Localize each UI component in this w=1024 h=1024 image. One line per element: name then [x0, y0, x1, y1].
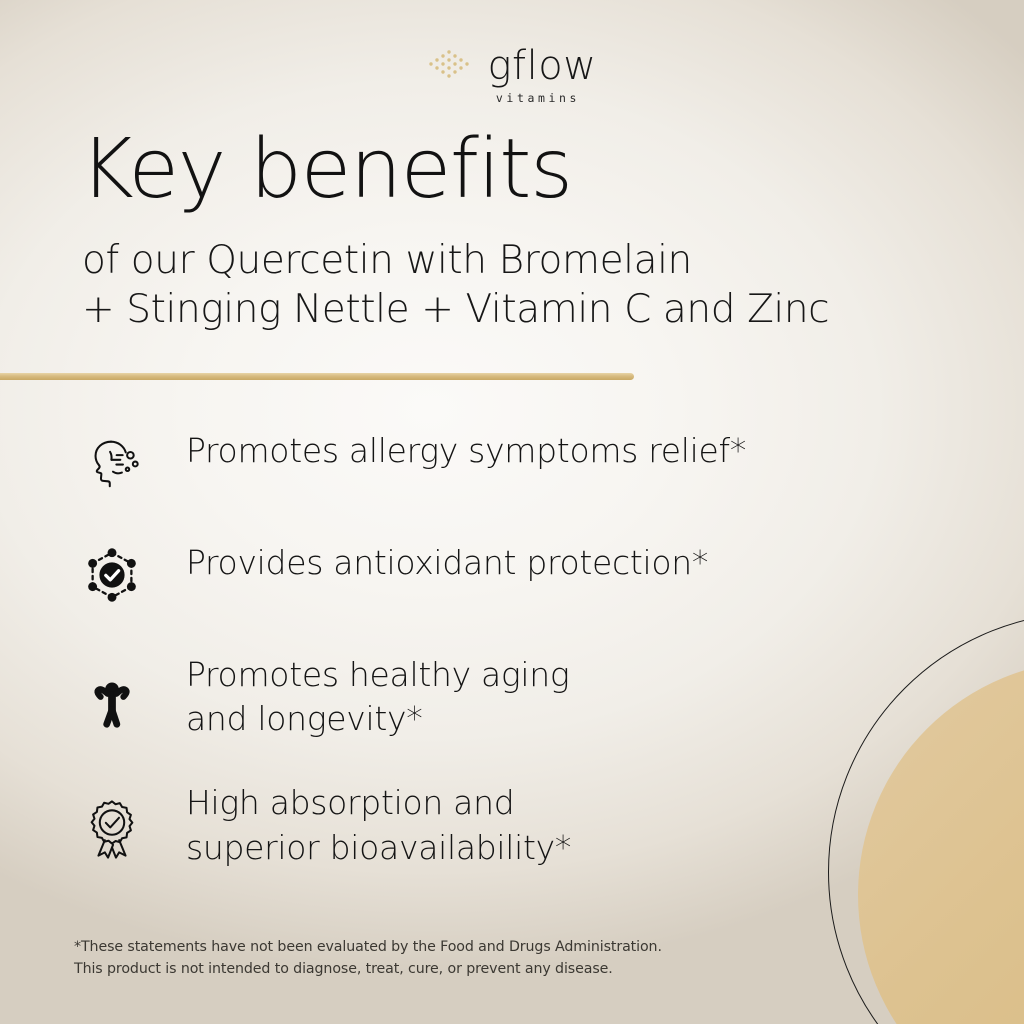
dotted-arrow-icon: [428, 49, 474, 84]
brand-tagline: vitamins: [496, 91, 580, 105]
page-title: Key benefits: [80, 128, 572, 212]
person-arms-raised-icon: [74, 663, 150, 739]
list-item: Promotes healthy aging and longevity*: [74, 649, 904, 741]
page-subtitle: of our Quercetin with Bromelain + Stingi…: [82, 236, 829, 334]
brand-logo: gflow vitamins: [0, 46, 1024, 105]
list-item-label: Promotes allergy symptoms relief*: [186, 425, 746, 473]
logo-row: gflow: [428, 46, 597, 86]
sneezing-head-icon: [74, 425, 150, 501]
list-item: Promotes allergy symptoms relief*: [74, 425, 904, 501]
gold-divider: [0, 373, 634, 380]
award-rosette-check-icon: [74, 791, 150, 867]
antioxidant-molecule-check-icon: [74, 537, 150, 613]
list-item-label: Promotes healthy aging and longevity*: [186, 649, 569, 741]
list-item-label: Provides antioxidant protection*: [186, 537, 708, 585]
list-item-label: High absorption and superior bioavailabi…: [186, 777, 571, 869]
disclaimer-text: *These statements have not been evaluate…: [74, 936, 662, 980]
list-item: High absorption and superior bioavailabi…: [74, 777, 904, 869]
brand-name: gflow: [488, 46, 597, 86]
benefits-list: Promotes allergy symptoms relief*: [74, 425, 904, 906]
poster-canvas: gflow vitamins Key benefits of our Querc…: [0, 0, 1024, 1024]
list-item: Provides antioxidant protection*: [74, 537, 904, 613]
